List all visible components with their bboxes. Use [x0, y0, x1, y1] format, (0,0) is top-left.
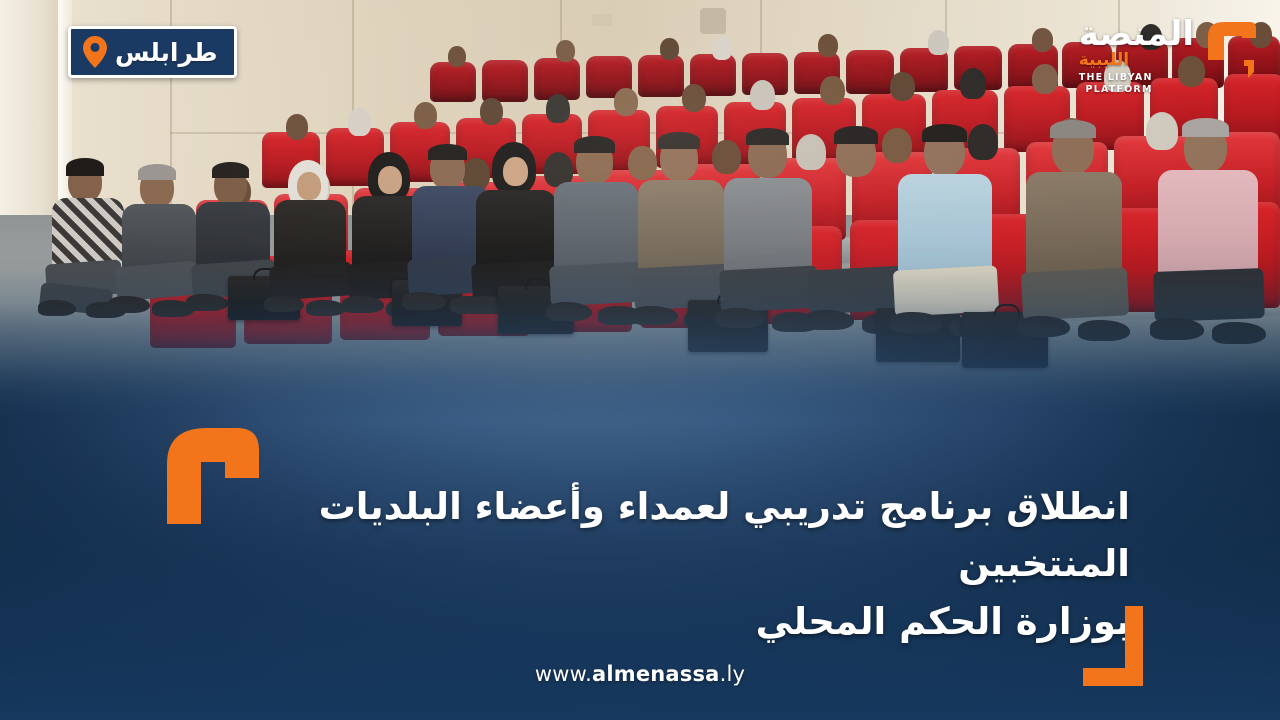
location-badge[interactable]: طرابلس	[68, 26, 237, 78]
logo-english-tagline: THE LIBYAN PLATFORM	[1079, 72, 1153, 96]
url-tld: .ly	[720, 662, 746, 686]
logo-arabic-name: المنصة	[1079, 18, 1194, 50]
website-url[interactable]: www.almenassa.ly	[0, 662, 1280, 686]
url-name: almenassa	[592, 662, 720, 686]
headline-line-1: انطلاق برنامج تدريبي لعمداء وأعضاء البلد…	[319, 485, 1130, 585]
logo-english-line2: PLATFORM	[1086, 84, 1153, 95]
logo-text-block: المنصة الليبية THE LIBYAN PLATFORM	[1079, 14, 1194, 96]
url-prefix: www.	[535, 662, 592, 686]
logo-english-line1: THE LIBYAN	[1079, 72, 1153, 83]
logo-arabic-sub: الليبية	[1079, 52, 1129, 69]
site-logo[interactable]: المنصة الليبية THE LIBYAN PLATFORM	[1079, 14, 1258, 96]
map-pin-icon	[83, 36, 107, 68]
headline-line-2: بوزارة الحكم المحلي	[215, 593, 1130, 650]
location-label: طرابلس	[115, 40, 218, 65]
news-card: طرابلس المنصة الليبية THE LIBYAN PLATFOR…	[0, 0, 1280, 720]
logo-bracket-mark	[1198, 16, 1258, 80]
